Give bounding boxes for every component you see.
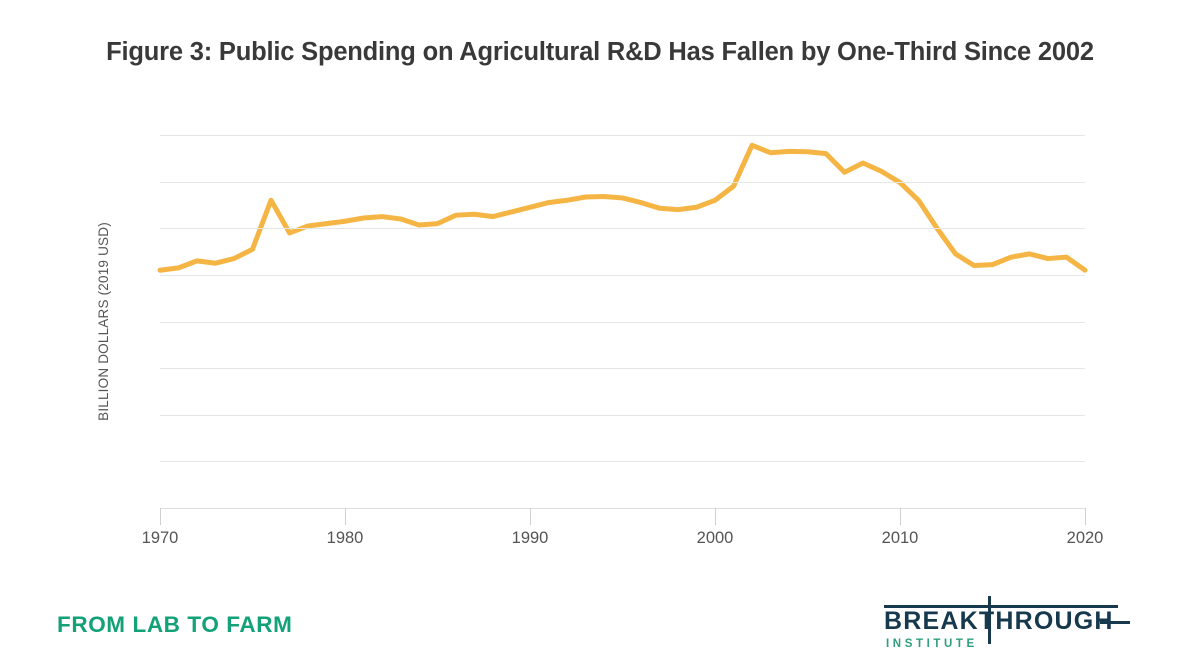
gridline-y-6	[160, 228, 1085, 229]
gridline-y-0	[160, 508, 1085, 509]
x-tick-label-1980: 1980	[327, 529, 364, 548]
gridline-y-7	[160, 182, 1085, 183]
x-tick-label-2020: 2020	[1067, 529, 1104, 548]
gridline-y-5	[160, 275, 1085, 276]
logo-wordmark: BREAKTHROUGH	[884, 609, 1114, 634]
x-tick-2020	[1085, 508, 1086, 525]
x-tick-2000	[715, 508, 716, 525]
logo-right-rule-icon	[1100, 621, 1130, 624]
x-tick-label-1990: 1990	[512, 529, 549, 548]
x-tick-1980	[345, 508, 346, 525]
x-tick-1990	[530, 508, 531, 525]
y-axis-title: BILLION DOLLARS (2019 USD)	[92, 135, 114, 508]
x-tick-label-2010: 2010	[882, 529, 919, 548]
gridline-y-1	[160, 461, 1085, 462]
gridline-y-2	[160, 415, 1085, 416]
series-line	[160, 145, 1085, 270]
gridline-y-4	[160, 322, 1085, 323]
y-axis-title-text: BILLION DOLLARS (2019 USD)	[96, 222, 111, 421]
gridline-y-3	[160, 368, 1085, 369]
breakthrough-institute-logo: BREAKTHROUGH INSTITUTE	[884, 596, 1136, 654]
plot-area: 012345678197019801990200020102020	[160, 135, 1085, 508]
x-tick-1970	[160, 508, 161, 525]
logo-subtitle: INSTITUTE	[886, 638, 978, 650]
x-tick-label-1970: 1970	[142, 529, 179, 548]
gridline-y-8	[160, 135, 1085, 136]
x-tick-2010	[900, 508, 901, 525]
x-tick-label-2000: 2000	[697, 529, 734, 548]
footer-tagline: FROM LAB TO FARM	[57, 612, 292, 638]
chart-container: BILLION DOLLARS (2019 USD) 0123456781970…	[0, 0, 1200, 580]
